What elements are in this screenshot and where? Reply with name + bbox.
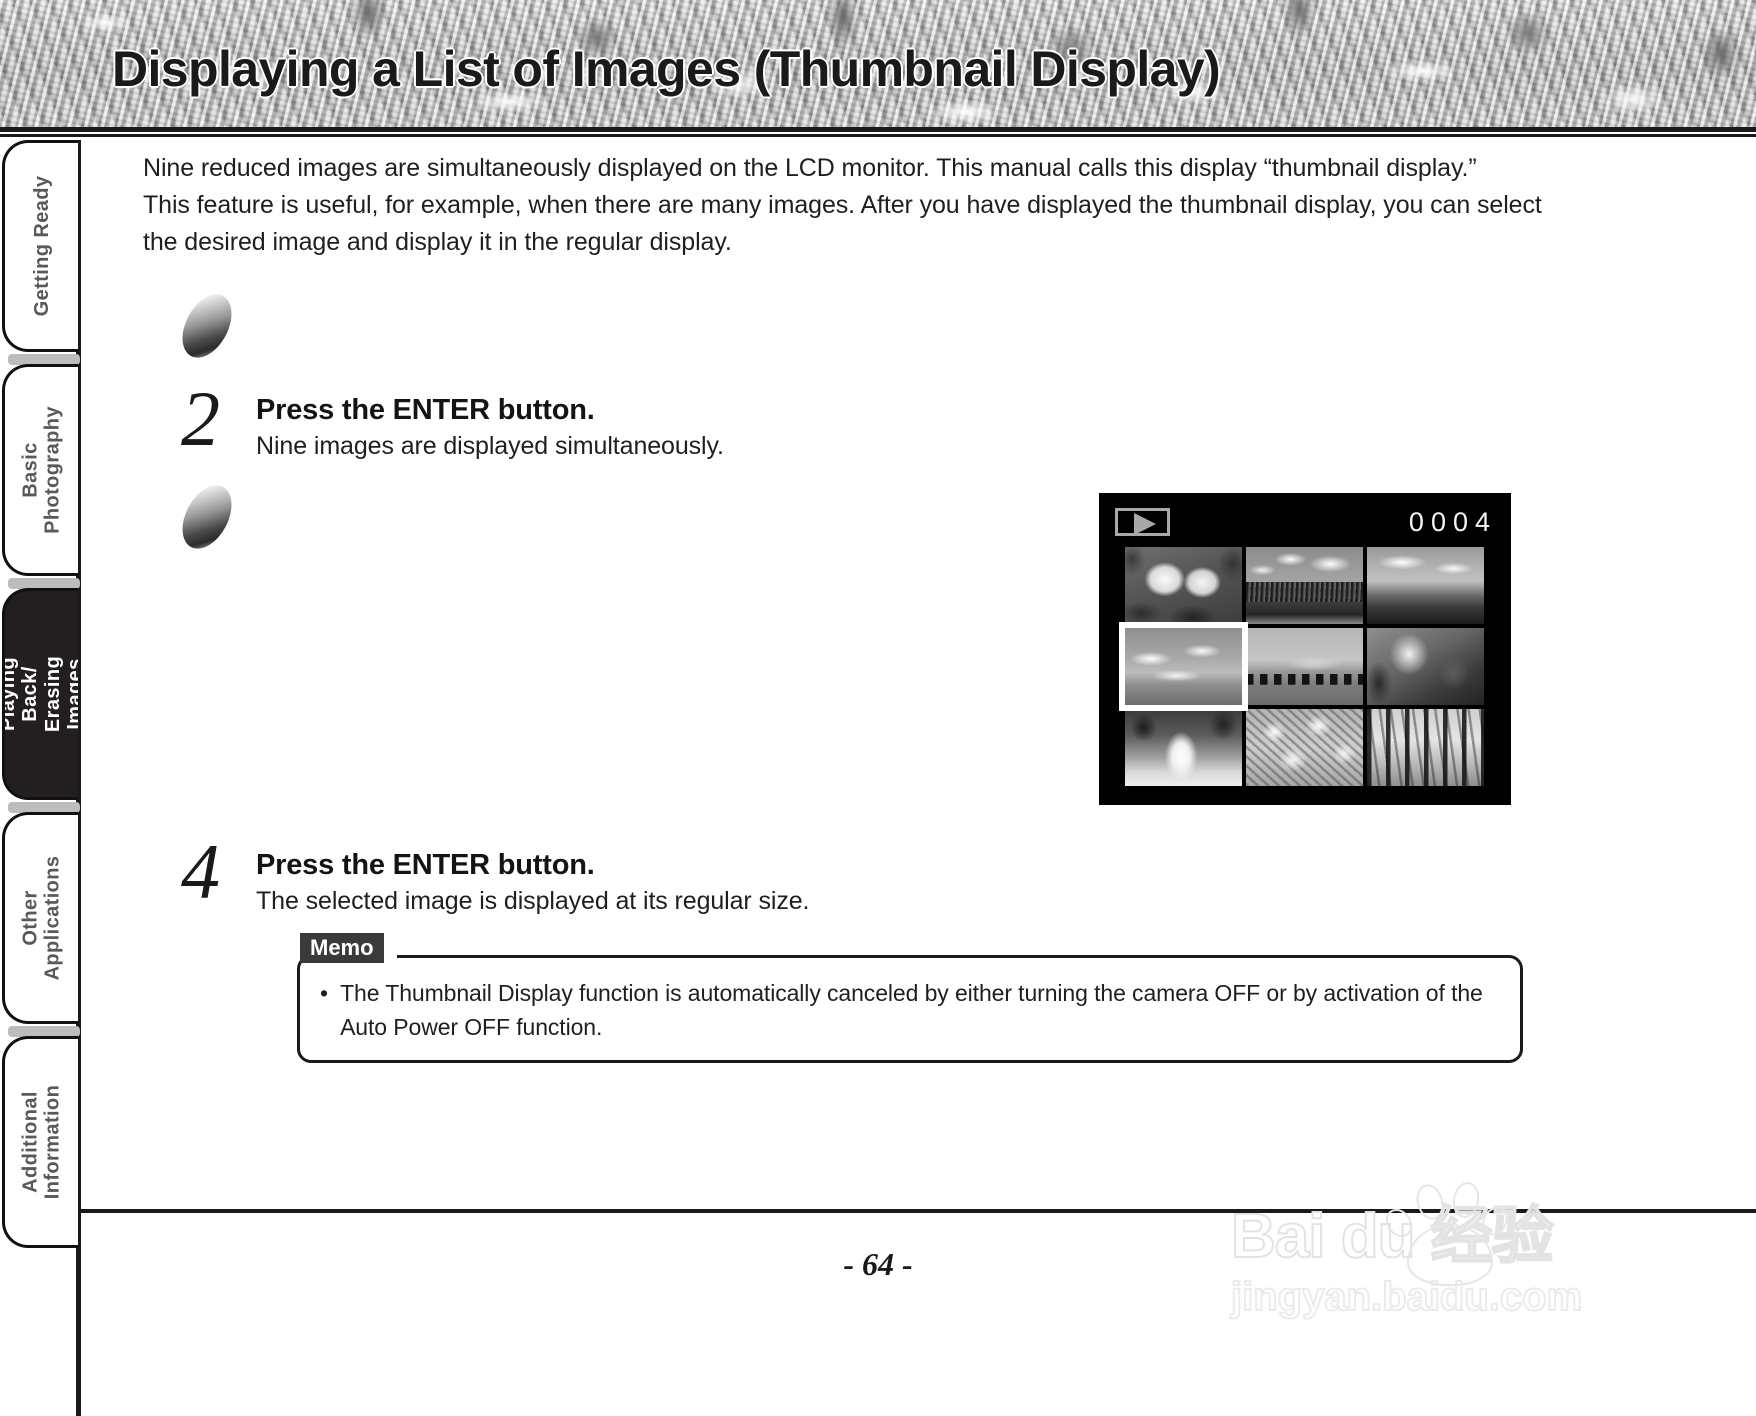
playback-play-icon — [1115, 508, 1170, 536]
page-header-banner: Displaying a List of Images (Thumbnail D… — [0, 0, 1756, 127]
sidebar-item-getting-ready[interactable]: Getting Ready — [2, 140, 78, 352]
lcd-monitor-thumbnail-display: 0004 — [1099, 493, 1511, 805]
footer-rule — [81, 1209, 1756, 1213]
thumbnail-1[interactable] — [1125, 547, 1242, 624]
step-3-numeral-blob — [172, 477, 241, 557]
memo-body: • The Thumbnail Display function is auto… — [320, 976, 1500, 1044]
paw-print-icon-toe-4 — [1477, 1202, 1513, 1240]
memo-callout-box: Memo • The Thumbnail Display function is… — [297, 955, 1523, 1063]
step-2-title: Press the ENTER button. — [256, 394, 595, 427]
intro-paragraph-2: This feature is useful, for example, whe… — [143, 187, 1563, 261]
watermark-url-text: jingyan.baidu.com — [1231, 1277, 1582, 1317]
memo-bullet-marker: • — [320, 976, 328, 1044]
lcd-frame-counter: 0004 — [1409, 507, 1497, 538]
memo-text: The Thumbnail Display function is automa… — [340, 976, 1500, 1044]
page-title: Displaying a List of Images (Thumbnail D… — [112, 44, 1220, 94]
memo-tag-label: Memo — [300, 933, 384, 963]
intro-paragraph-1: Nine reduced images are simultaneously d… — [143, 150, 1563, 187]
header-rule-upper — [0, 127, 1756, 132]
sidebar-item-label: Additional Information — [19, 1085, 64, 1199]
thumbnail-7[interactable] — [1125, 709, 1242, 786]
step-1-numeral-blob — [172, 286, 241, 366]
step-4-description: The selected image is displayed at its r… — [256, 887, 809, 916]
paw-print-icon-toe-1 — [1413, 1181, 1448, 1223]
thumbnail-8[interactable] — [1246, 709, 1363, 786]
sidebar-item-playing-back-erasing-images[interactable]: Playing Back/ Erasing Images — [2, 588, 78, 800]
sidebar-item-label: Basic Photography — [19, 406, 64, 534]
sidebar-item-label: Playing Back/ Erasing Images — [2, 656, 78, 732]
sidebar-item-label: Other Applications — [19, 856, 64, 981]
manual-page: Displaying a List of Images (Thumbnail D… — [0, 0, 1756, 1416]
thumbnail-3[interactable] — [1367, 547, 1484, 624]
paw-print-icon-toe-2 — [1450, 1180, 1482, 1220]
thumbnail-2[interactable] — [1246, 547, 1363, 624]
lcd-thumbnail-grid — [1125, 547, 1485, 787]
thumbnail-6[interactable] — [1367, 628, 1484, 705]
step-4-number: 4 — [181, 833, 220, 911]
page-number: - 64 - — [0, 1246, 1756, 1283]
sidebar-item-additional-information[interactable]: Additional Information — [2, 1036, 78, 1248]
sidebar-item-basic-photography[interactable]: Basic Photography — [2, 364, 78, 576]
header-rule-lower — [0, 134, 1756, 137]
sidebar-item-label: Getting Ready — [30, 176, 52, 317]
thumbnail-4-selected[interactable] — [1125, 628, 1242, 705]
intro-paragraphs: Nine reduced images are simultaneously d… — [143, 150, 1563, 261]
thumbnail-5[interactable] — [1246, 628, 1363, 705]
play-triangle-icon — [1134, 513, 1156, 535]
sidebar-tabs: Getting Ready Basic Photography Playing … — [0, 140, 80, 1416]
step-2-number: 2 — [181, 380, 220, 458]
step-2-description: Nine images are displayed simultaneously… — [256, 432, 724, 461]
sidebar-item-other-applications[interactable]: Other Applications — [2, 812, 78, 1024]
thumbnail-9[interactable] — [1367, 709, 1484, 786]
step-4-title: Press the ENTER button. — [256, 849, 595, 882]
page-content: Nine reduced images are simultaneously d… — [81, 140, 1756, 1416]
